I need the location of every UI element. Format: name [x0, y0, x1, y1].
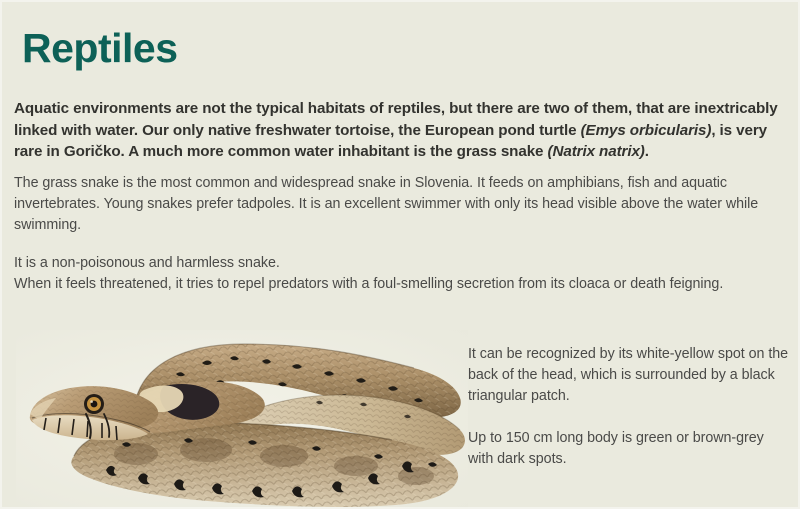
side-notes-column: It can be recognized by its white-yellow…: [468, 344, 790, 470]
paragraph-harmless-line-1: It is a non-poisonous and harmless snake…: [14, 255, 280, 271]
lead-part-3: .: [645, 143, 649, 160]
paragraph-grass-snake: The grass snake is the most common and w…: [14, 173, 788, 236]
page-title: Reptiles: [22, 26, 178, 70]
lead-paragraph: Aquatic environments are not the typical…: [14, 98, 788, 163]
paragraph-harmless: It is a non-poisonous and harmless snake…: [14, 253, 788, 295]
reptiles-info-panel: Reptiles Aquatic environments are not th…: [0, 0, 800, 509]
side-note-identification: It can be recognized by its white-yellow…: [468, 344, 790, 407]
snake-eye: [84, 394, 104, 414]
grass-snake-illustration: [16, 330, 468, 509]
side-note-size-colour: Up to 150 cm long body is green or brown…: [468, 428, 790, 470]
paragraph-harmless-line-2: When it feels threatened, it tries to re…: [14, 276, 723, 292]
species-name-emys: (Emys orbicularis): [581, 122, 712, 139]
species-name-natrix: (Natrix natrix): [548, 143, 645, 160]
main-text-column: Aquatic environments are not the typical…: [14, 98, 788, 295]
